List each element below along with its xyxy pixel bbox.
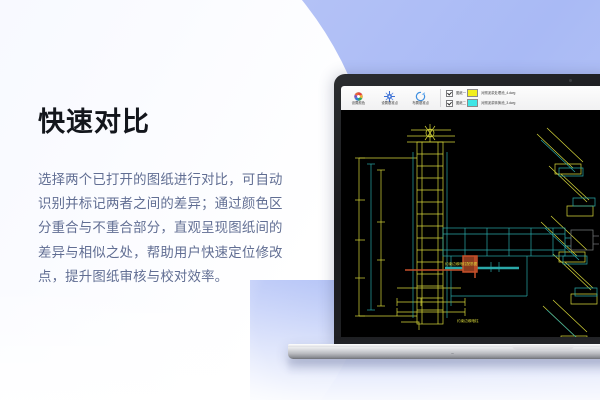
- place-basepoint-label: 布置基准点: [412, 102, 429, 105]
- layer-row-one[interactable]: 图纸一 对照泥浆处理池_4.dwg: [446, 89, 600, 97]
- reference-outline: [571, 230, 599, 250]
- layer-one-filename: 对照泥浆处理池_4.dwg: [481, 91, 515, 96]
- laptop-device: 设置颜色 设置基准点: [334, 74, 600, 356]
- page-title: 快速对比: [38, 108, 288, 138]
- ribbon-divider: [440, 89, 441, 107]
- laptop-lid: 设置颜色 设置基准点: [334, 74, 600, 346]
- webcam-icon: [569, 79, 572, 82]
- layer-one-checkbox[interactable]: [446, 90, 453, 97]
- set-basepoint-label: 设置基准点: [381, 102, 398, 105]
- color-wheel-icon: [353, 91, 364, 102]
- laptop-base-notch: [512, 345, 574, 350]
- screenshot-stage: 快速对比 选择两个已打开的图纸进行对比，可自动识别并标记两者之间的差异；通过颜色…: [0, 0, 600, 400]
- cad-drawing-canvas[interactable]: 约束边缘暗柱配筋图 约束边缘暗柱: [341, 110, 600, 337]
- layer-two-label: 图纸二: [456, 101, 466, 106]
- difference-highlight: [405, 256, 477, 278]
- laptop-screen: 设置颜色 设置基准点: [341, 86, 600, 337]
- set-color-button[interactable]: 设置颜色: [343, 91, 374, 106]
- set-color-label: 设置颜色: [352, 102, 365, 105]
- page-description: 选择两个已打开的图纸进行对比，可自动识别并标记两者之间的差异；通过颜色区分重合与…: [38, 168, 288, 290]
- layer-two-color-swatch[interactable]: [467, 99, 478, 107]
- layer-two-checkbox[interactable]: [446, 100, 453, 107]
- ribbon-button-group: 设置颜色 设置基准点: [341, 86, 438, 110]
- layer-one-color-swatch[interactable]: [467, 89, 478, 97]
- place-basepoint-button[interactable]: 布置基准点: [405, 91, 436, 106]
- circle-arrow-icon: [415, 91, 426, 102]
- drawing-one-geometry: [355, 124, 597, 337]
- ribbon-toolbar: 设置颜色 设置基准点: [341, 86, 600, 111]
- laptop-reflection: [288, 359, 600, 375]
- cad-label-two: 约束边缘暗柱: [457, 318, 479, 323]
- layer-one-label: 图纸一: [456, 91, 466, 96]
- marketing-copy: 快速对比 选择两个已打开的图纸进行对比，可自动识别并标记两者之间的差异；通过颜色…: [38, 108, 288, 290]
- target-crosshair-icon: [384, 91, 395, 102]
- set-basepoint-button[interactable]: 设置基准点: [374, 91, 405, 106]
- layer-list: 图纸一 对照泥浆处理池_4.dwg 图纸二 对照泥浆转换池_3.dwg: [443, 86, 600, 110]
- layer-row-two[interactable]: 图纸二 对照泥浆转换池_3.dwg: [446, 99, 600, 107]
- cad-label-one: 约束边缘暗柱配筋图: [445, 261, 478, 266]
- layer-two-filename: 对照泥浆转换池_3.dwg: [481, 101, 515, 106]
- app-window: 设置颜色 设置基准点: [341, 86, 600, 337]
- drawing-two-geometry: [367, 140, 597, 337]
- cad-drawing: 约束边缘暗柱配筋图 约束边缘暗柱: [341, 110, 600, 337]
